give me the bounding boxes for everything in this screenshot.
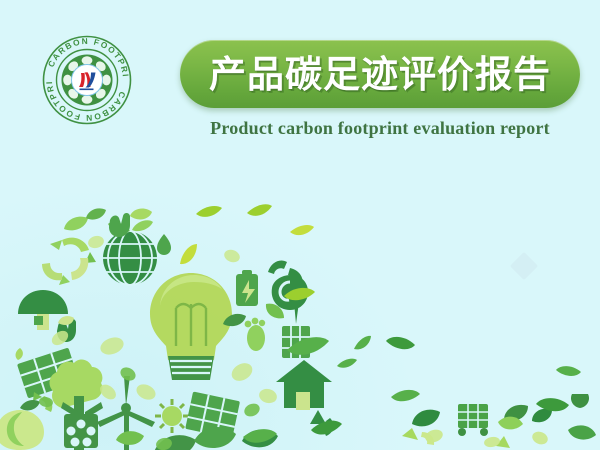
carbon-footprint-seal: CARBON FOOTPRINT · CARBON FOOTPRINT · — [41, 34, 133, 126]
hand-icon — [268, 260, 308, 310]
lightbulb-icon — [150, 273, 232, 380]
house-icon — [276, 360, 332, 410]
report-cover-page: CARBON FOOTPRINT · CARBON FOOTPRINT · — [0, 0, 600, 450]
sun-icon — [155, 399, 189, 433]
page-subtitle: Product carbon footprint evaluation repo… — [180, 118, 580, 139]
windmill-icon — [282, 302, 310, 358]
diamond-watermark — [510, 252, 538, 280]
eco-icon-collage — [0, 196, 340, 450]
report-title-banner: 产品碳足迹评价报告 — [180, 40, 580, 108]
leaf-icon — [0, 400, 44, 450]
flower-icon — [64, 414, 98, 448]
solar-panel-icon — [458, 404, 488, 436]
tree-icon — [571, 394, 589, 408]
water-drop-icon — [157, 234, 171, 255]
footprint-icon — [245, 318, 266, 351]
battery-icon — [236, 270, 258, 306]
recycle-icon — [42, 238, 96, 285]
recycle-icon — [310, 410, 333, 436]
page-title: 产品碳足迹评价报告 — [209, 56, 551, 93]
eco-icon-corner-cluster — [400, 392, 600, 450]
hand-icon — [109, 213, 130, 237]
